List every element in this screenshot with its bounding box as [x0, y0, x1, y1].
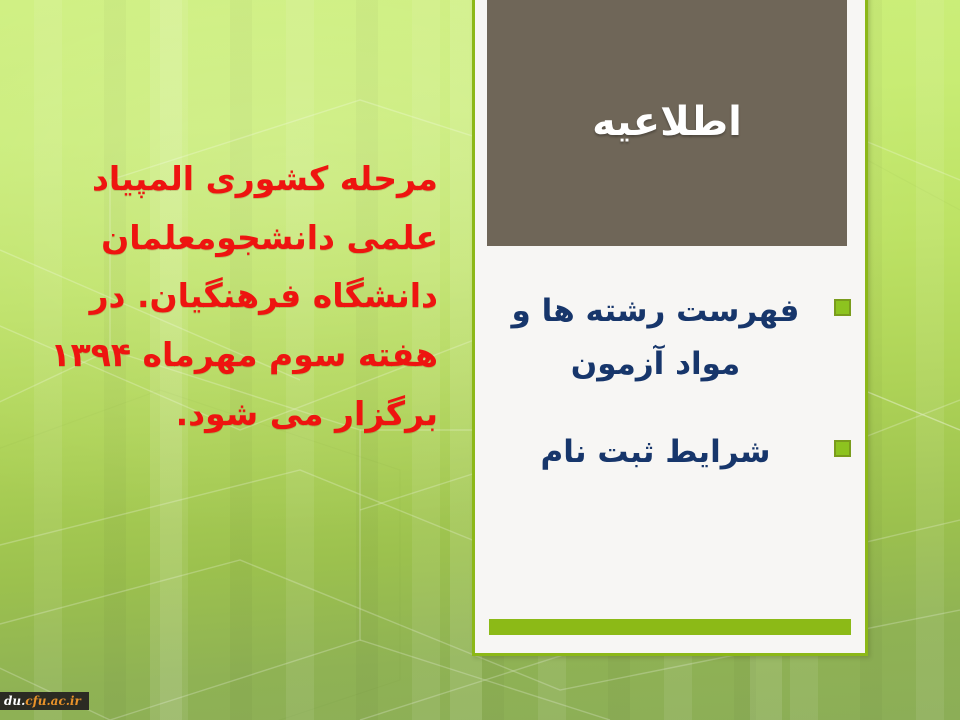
watermark-prefix: du.	[4, 694, 25, 708]
square-bullet-icon	[834, 299, 851, 316]
notice-card: اطلاعیه فهرست رشته ها و مواد آزمون شرایط…	[472, 0, 868, 656]
announcement-line: برگزار می شود.	[26, 385, 438, 444]
card-bottom-accent-bar	[489, 619, 851, 635]
announcement-line: هفته سوم مهرماه ۱۳۹۴	[26, 326, 438, 385]
site-watermark: du.cfu.ac.ir	[0, 692, 89, 710]
list-item[interactable]: شرایط ثبت نام	[489, 426, 851, 479]
announcement-line: علمی دانشجومعلمان	[26, 209, 438, 268]
list-item[interactable]: فهرست رشته ها و مواد آزمون	[489, 285, 851, 392]
card-title-box: اطلاعیه	[487, 0, 847, 246]
card-bullet-list: فهرست رشته ها و مواد آزمون شرایط ثبت نام	[489, 285, 851, 513]
card-title: اطلاعیه	[592, 99, 742, 145]
announcement-text: مرحله کشوری المپیاد علمی دانشجومعلمان دا…	[26, 150, 438, 444]
list-item-label: فهرست رشته ها و مواد آزمون	[489, 285, 822, 392]
announcement-line: دانشگاه فرهنگیان. در	[26, 267, 438, 326]
presentation-slide: مرحله کشوری المپیاد علمی دانشجومعلمان دا…	[0, 0, 960, 720]
square-bullet-icon	[834, 440, 851, 457]
announcement-line: مرحله کشوری المپیاد	[26, 150, 438, 209]
list-item-label: شرایط ثبت نام	[489, 426, 822, 479]
watermark-domain: cfu.ac.ir	[25, 694, 81, 708]
